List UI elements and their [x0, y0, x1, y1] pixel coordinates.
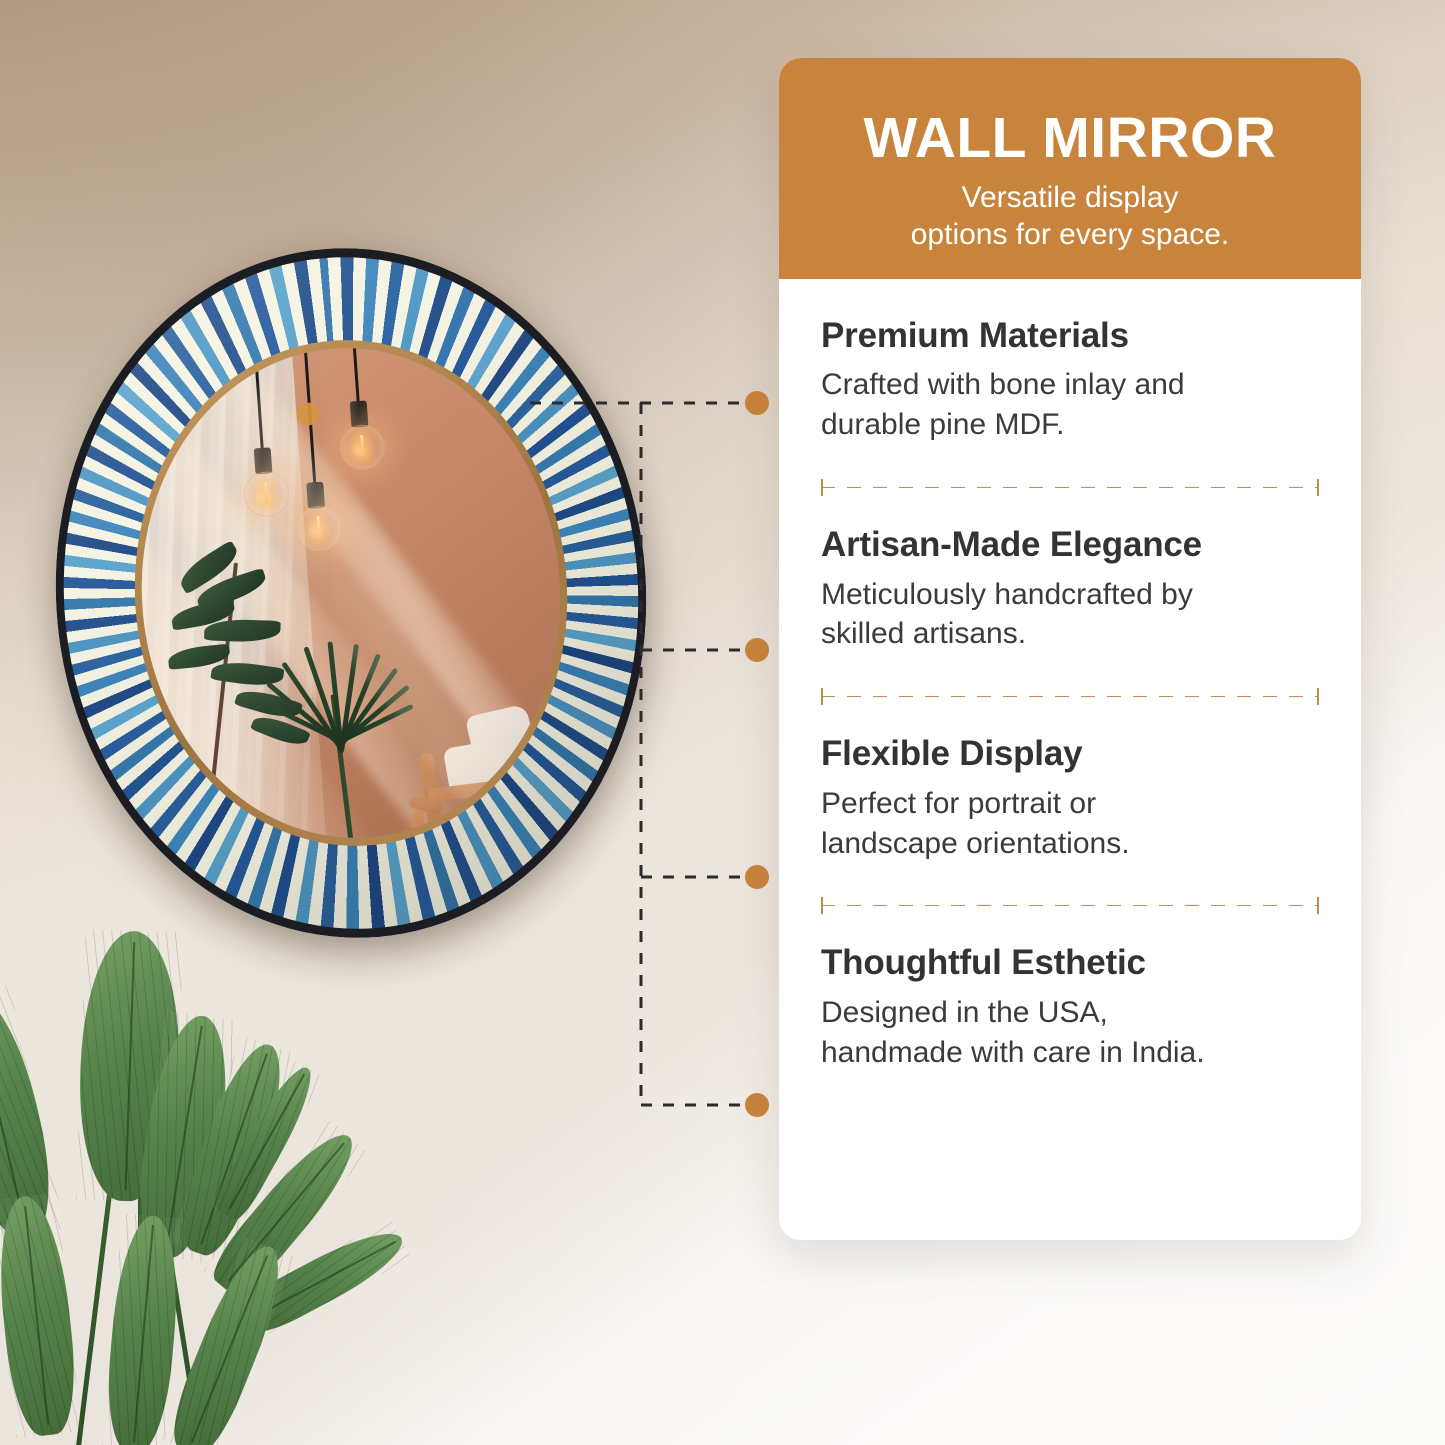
mirror-body	[33, 228, 670, 957]
feature-divider	[821, 696, 1319, 697]
feature-description-line-1: Meticulously handcrafted by	[821, 575, 1319, 615]
feature-divider	[821, 487, 1319, 488]
feature-description-line-2: durable pine MDF.	[821, 405, 1319, 445]
feature-item-premium-materials: Premium Materials Crafted with bone inla…	[821, 315, 1319, 449]
feature-description-line-2: skilled artisans.	[821, 614, 1319, 654]
feature-title: Thoughtful Esthetic	[821, 942, 1319, 983]
plant-leaf	[0, 1193, 82, 1439]
feature-title: Flexible Display	[821, 733, 1319, 774]
mirror-glass-reflection	[125, 334, 576, 852]
feature-item-flexible-display: Flexible Display Perfect for portrait or…	[821, 733, 1319, 867]
feature-divider	[821, 905, 1319, 906]
feature-description-line-1: Perfect for portrait or	[821, 784, 1319, 824]
feature-item-artisan-made-elegance: Artisan-Made Elegance Meticulously handc…	[821, 524, 1319, 658]
feature-description-line-2: handmade with care in India.	[821, 1033, 1319, 1073]
feature-description-line-2: landscape orientations.	[821, 824, 1319, 864]
feature-title: Artisan-Made Elegance	[821, 524, 1319, 565]
foreground-plant	[0, 895, 362, 1445]
feature-description-line-1: Crafted with bone inlay and	[821, 365, 1319, 405]
feature-description: Designed in the USA, handmade with care …	[821, 993, 1319, 1073]
feature-description: Crafted with bone inlay and durable pine…	[821, 365, 1319, 445]
plant-leaf	[102, 1213, 184, 1445]
card-subtitle-line-2: options for every space.	[813, 217, 1327, 254]
feature-list: Premium Materials Crafted with bone inla…	[779, 279, 1361, 1076]
card-subtitle-line-1: Versatile display	[813, 180, 1327, 217]
feature-title: Premium Materials	[821, 315, 1319, 356]
card-header: WALL MIRROR Versatile display options fo…	[779, 58, 1361, 279]
feature-item-thoughtful-esthetic: Thoughtful Esthetic Designed in the USA,…	[821, 942, 1319, 1076]
card-subtitle: Versatile display options for every spac…	[813, 180, 1327, 253]
page-title: WALL MIRROR	[813, 110, 1327, 167]
product-mirror	[48, 240, 668, 952]
feature-description-line-1: Designed in the USA,	[821, 993, 1319, 1033]
feature-description: Perfect for portrait or landscape orient…	[821, 784, 1319, 864]
pendant-socket	[350, 400, 369, 427]
feature-description: Meticulously handcrafted by skilled arti…	[821, 575, 1319, 655]
info-card: WALL MIRROR Versatile display options fo…	[779, 58, 1361, 1240]
